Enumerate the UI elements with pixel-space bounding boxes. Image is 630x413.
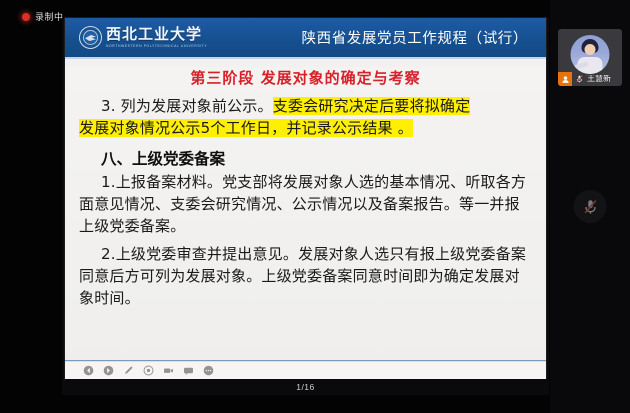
meeting-screen: 录制中 西北工业大学 NORTHWESTERN POLYTECHNICAL UN… [0,0,630,413]
recording-label: 录制中 [35,10,64,23]
participant-name: 王慧新 [587,75,611,83]
more-options-icon[interactable] [203,365,214,376]
university-name-en: NORTHWESTERN POLYTECHNICAL UNIVERSITY [106,44,207,49]
host-badge-icon [558,72,572,86]
paragraph-1: 1.上报备案材料。党支部将发展对象人选的基本情况、听取各方面意见情况、支委会研究… [65,171,546,237]
university-name-cn: 西北工业大学 [106,27,202,42]
microphone-muted-icon [575,74,584,85]
slide-title: 陕西省发展党员工作规程（试行） [302,27,547,48]
next-slide-icon[interactable] [103,365,114,376]
participant-tile-footer: 王慧新 [558,72,622,86]
shared-screen-region: 西北工业大学 NORTHWESTERN POLYTECHNICAL UNIVER… [62,18,549,395]
paragraph-3-line2: 发展对象情况公示5个工作日，并记录公示结果 。 [65,117,546,139]
microphone-muted-indicator-icon[interactable] [574,190,607,223]
university-emblem-icon [79,26,102,49]
participant-sidebar: 王慧新 [550,0,630,413]
slide-body: 第三阶段 发展对象的确定与考察 3. 列为发展对象前公示。支委会研究决定后要将拟… [65,67,546,379]
chat-icon[interactable] [183,365,194,376]
paragraph-3-highlight-2: 发展对象情况公示5个工作日，并记录公示结果 。 [79,119,413,137]
share-page-indicator-bar: 1/16 [62,379,549,395]
paragraph-3-highlight-1: 支委会研究决定后要将拟确定 [273,97,471,115]
slide-section-title: 第三阶段 发展对象的确定与考察 [65,67,546,88]
camera-icon[interactable] [163,365,174,376]
paragraph-3-plain: 3. 列为发展对象前公示。 [101,97,273,115]
recording-indicator: 录制中 [22,10,64,23]
previous-slide-icon[interactable] [83,365,94,376]
pen-icon[interactable] [123,365,134,376]
avatar [571,35,610,74]
paragraph-2: 2.上级党委审查并提出意见。发展对象人选只有报上级党委备案同意后方可列为发展对象… [65,243,546,309]
university-logo: 西北工业大学 NORTHWESTERN POLYTECHNICAL UNIVER… [65,26,207,49]
paragraph-3: 3. 列为发展对象前公示。支委会研究决定后要将拟确定 [65,95,546,117]
slide-header: 西北工业大学 NORTHWESTERN POLYTECHNICAL UNIVER… [65,18,546,59]
participant-tile[interactable]: 王慧新 [558,29,622,86]
presentation-toolbar[interactable] [65,361,546,379]
presentation-slide[interactable]: 西北工业大学 NORTHWESTERN POLYTECHNICAL UNIVER… [65,18,546,379]
recording-dot-icon [22,13,30,21]
page-indicator: 1/16 [296,382,315,392]
laser-pointer-icon[interactable] [143,365,154,376]
heading-section-8: 八、上级党委备案 [65,147,546,169]
